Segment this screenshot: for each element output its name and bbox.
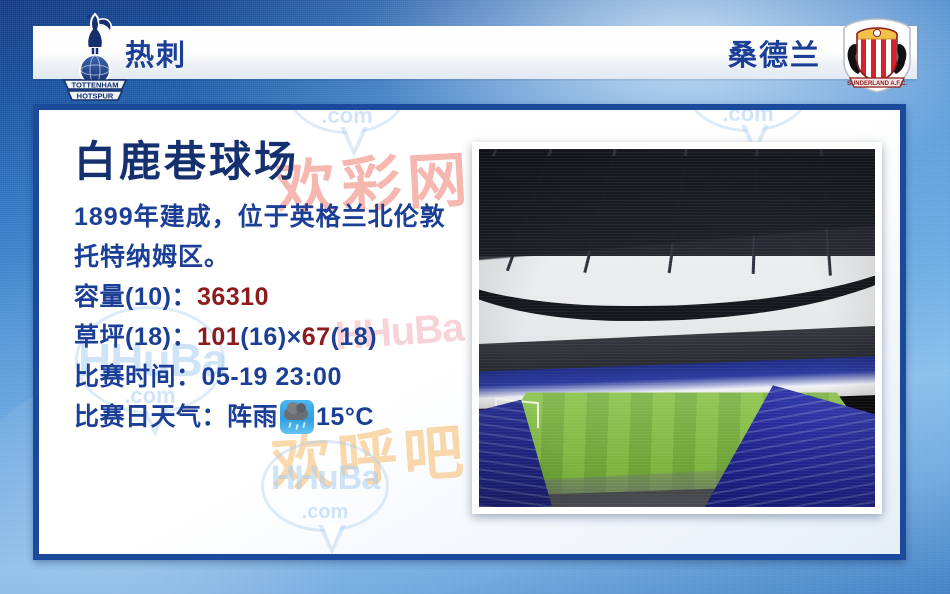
pitch-width-value: 67 [302, 323, 331, 351]
pitch-length-value: 101 [197, 323, 240, 351]
pitch-width-unit: (18) [331, 323, 377, 351]
match-time-row: 比赛时间：05-19 23:00 [74, 357, 504, 397]
weather-condition: 阵雨 [227, 403, 278, 431]
stadium-photo [479, 149, 875, 507]
weather-temperature: 15°C [316, 403, 374, 431]
watermark-bubble-bottom: HHuBa .com [261, 440, 389, 532]
match-time-label: 比赛时间： [74, 363, 202, 391]
stadium-photo-frame [472, 142, 882, 514]
away-team-name: 桑德兰 [728, 32, 821, 74]
tottenham-hotspur-crest-icon: TOTTENHAM HOTSPUR [58, 8, 132, 102]
match-weather-row: 比赛日天气：阵雨15°C [74, 397, 504, 437]
svg-text:SUNDERLAND A.F.C.: SUNDERLAND A.F.C. [847, 81, 907, 87]
stadium-info-panel: .com .com 欢彩网 HHuBa .com HHuBa 欢呼吧 HHuBa… [33, 104, 906, 560]
teams-header-bar: 热刺 桑德兰 [33, 26, 917, 79]
capacity-value: 36310 [197, 283, 269, 311]
capacity-row: 容量(10)：36310 [74, 277, 504, 317]
pitch-size-row: 草坪(18)：101(16)×67(18) [74, 317, 504, 357]
shower-rain-icon [280, 400, 314, 434]
watermark-bubble-top-right: .com [685, 104, 811, 132]
sunderland-afc-crest-icon: SUNDERLAND A.F.C. [838, 16, 916, 94]
stadium-description-line-1: 1899年建成，位于英格兰北伦敦 [74, 197, 504, 237]
match-time-value: 05-19 23:00 [202, 363, 342, 391]
pitch-size-separator: × [287, 323, 302, 351]
weather-label: 比赛日天气： [74, 403, 227, 431]
svg-text:HOTSPUR: HOTSPUR [77, 92, 114, 101]
match-info-stage: 热刺 桑德兰 TOTTENHAM HOTSPUR [0, 0, 950, 594]
pitch-label: 草坪(18)： [74, 323, 197, 351]
watermark-bubble-top: .com [287, 104, 407, 134]
capacity-label: 容量(10)： [74, 283, 197, 311]
stadium-name-title: 白鹿巷球场 [74, 140, 504, 185]
stadium-info-column: 白鹿巷球场 1899年建成，位于英格兰北伦敦 托特纳姆区。 容量(10)：363… [74, 140, 504, 437]
svg-text:TOTTENHAM: TOTTENHAM [72, 81, 119, 90]
home-team-name: 热刺 [125, 32, 187, 74]
photo-roof-edge [479, 156, 875, 321]
pitch-length-unit: (16) [240, 323, 286, 351]
stadium-description-line-2: 托特纳姆区。 [74, 237, 504, 277]
